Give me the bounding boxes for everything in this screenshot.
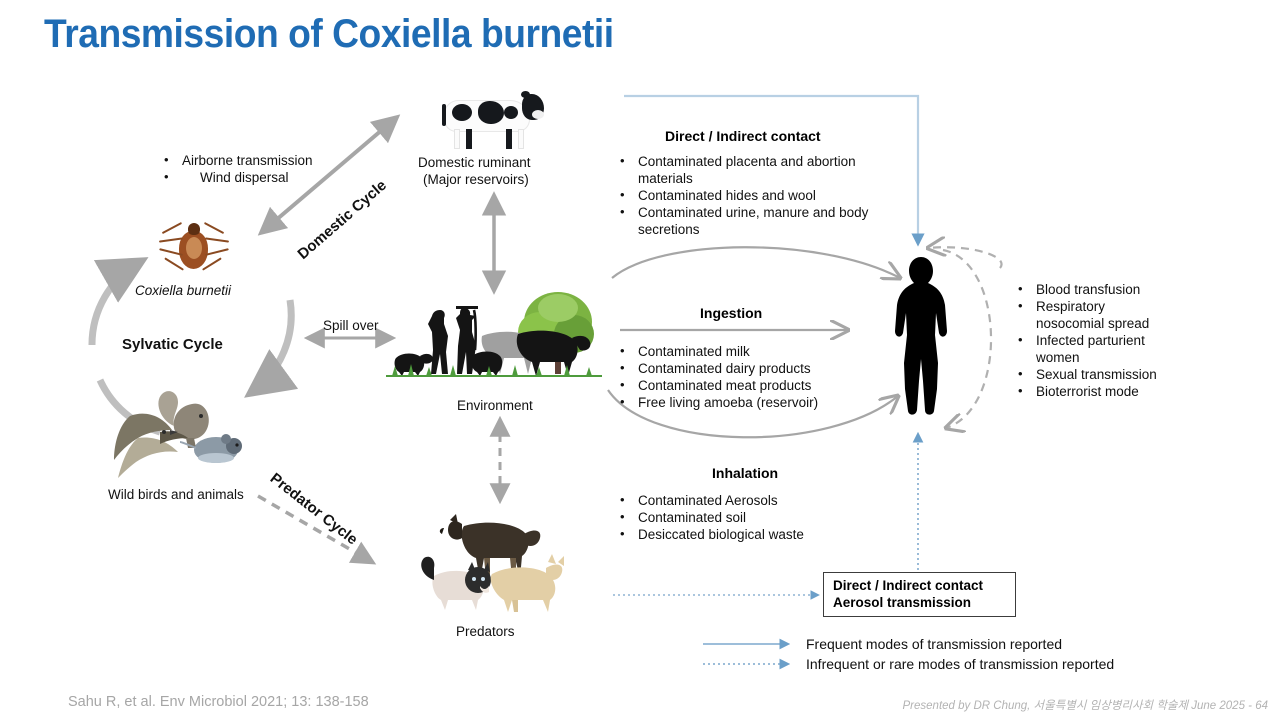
box-line-1: Direct / Indirect contact	[833, 577, 1015, 594]
list-item: Free living amoeba (reservoir)	[616, 394, 818, 411]
predators-label: Predators	[456, 624, 515, 639]
environment-label: Environment	[457, 398, 533, 413]
farmer-silhouettes	[428, 306, 478, 374]
environment-image	[386, 288, 602, 384]
list-item: Desiccated biological waste	[616, 526, 804, 543]
ruminant-label-line2: (Major reservoirs)	[423, 172, 529, 187]
list-item: Contaminated urine, manure and body secr…	[616, 204, 906, 238]
human-outcomes-list: Blood transfusion Respiratory nosocomial…	[1014, 281, 1164, 400]
list-item: Infected parturient women	[1014, 332, 1164, 366]
ruminant-label-line1: Domestic ruminant	[418, 155, 531, 170]
route-bullets-inhalation: Contaminated Aerosols Contaminated soil …	[616, 492, 804, 543]
list-item: Blood transfusion	[1014, 281, 1164, 298]
airborne-bullet-list: Airborne transmission Wind dispersal	[160, 152, 313, 186]
list-item: Respiratory nosocomial spread	[1014, 298, 1164, 332]
list-item: Contaminated dairy products	[616, 360, 818, 377]
sylvatic-cycle-arc-left	[92, 262, 140, 345]
human-silhouette-image	[885, 255, 957, 417]
sylvatic-cycle-arc-right	[252, 300, 291, 392]
tan-cat-icon	[491, 554, 564, 612]
route-bullets-direct-contact: Contaminated placenta and abortion mater…	[616, 153, 906, 238]
legend-label-frequent: Frequent modes of transmission reported	[806, 636, 1062, 652]
list-item: Contaminated soil	[616, 509, 804, 526]
footer-presenter: Presented by DR Chung, 서울특별시 임상병리사회 학술제 …	[903, 697, 1268, 713]
legend-label-infrequent: Infrequent or rare modes of transmission…	[806, 656, 1114, 672]
cow-image	[434, 84, 546, 150]
list-item: Contaminated placenta and abortion mater…	[616, 153, 906, 187]
list-item: Bioterrorist mode	[1014, 383, 1164, 400]
route-heading-inhalation: Inhalation	[712, 465, 778, 481]
list-item: Contaminated milk	[616, 343, 818, 360]
route-bullets-ingestion: Contaminated milk Contaminated dairy pro…	[616, 343, 818, 411]
list-item: Sexual transmission	[1014, 366, 1164, 383]
list-item: Contaminated Aerosols	[616, 492, 804, 509]
vector-label: Coxiella burnetii	[135, 283, 231, 298]
slide-canvas: Transmission of Coxiella burnetii	[0, 0, 1280, 720]
predators-image	[406, 500, 576, 618]
route-heading-direct-contact: Direct / Indirect contact	[665, 128, 821, 144]
tick-image	[155, 205, 231, 281]
list-item: Contaminated hides and wool	[616, 187, 906, 204]
spill-over-label: Spill over	[323, 318, 379, 333]
sylvatic-cycle-label: Sylvatic Cycle	[122, 336, 223, 353]
footer-citation: Sahu R, et al. Env Microbiol 2021; 13: 1…	[68, 694, 369, 710]
list-item: Wind dispersal	[160, 169, 313, 186]
wild-animals-image	[100, 386, 260, 482]
box-line-2: Aerosol transmission	[833, 594, 1015, 611]
route-heading-ingestion: Ingestion	[700, 305, 762, 321]
list-item: Contaminated meat products	[616, 377, 818, 394]
direct-contact-arc-arrow	[612, 247, 900, 278]
wild-animals-label: Wild birds and animals	[108, 487, 244, 502]
human-to-human-transmission-box: Direct / Indirect contact Aerosol transm…	[823, 572, 1016, 617]
list-item: Airborne transmission	[160, 152, 313, 169]
